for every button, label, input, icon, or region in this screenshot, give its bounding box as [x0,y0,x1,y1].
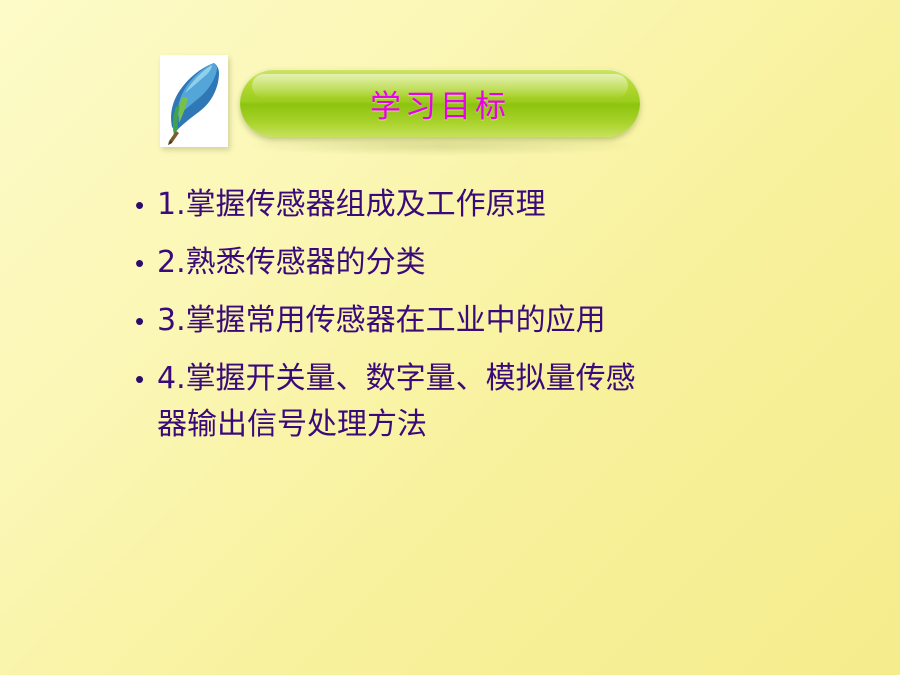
slide-canvas: 学习目标 • 1.掌握传感器组成及工作原理 • 2.熟悉传感器的分类 • 3.掌… [0,0,900,675]
list-item-text: 3.掌握常用传感器在工业中的应用 [157,298,606,344]
list-item-text-line2: 器输出信号处理方法 [157,402,636,448]
list-item-text-wrapper: 4.掌握开关量、数字量、模拟量传感 器输出信号处理方法 [157,356,636,448]
list-item: • 4.掌握开关量、数字量、模拟量传感 器输出信号处理方法 [135,356,855,448]
feather-quill-icon [160,55,228,147]
bullet-marker-icon: • [135,356,157,402]
bullet-marker-icon: • [135,182,157,228]
banner-shadow [252,137,632,155]
list-item-text: 1.掌握传感器组成及工作原理 [157,182,546,228]
list-item: • 1.掌握传感器组成及工作原理 [135,182,855,228]
list-item: • 2.熟悉传感器的分类 [135,240,855,286]
list-item-text: 2.熟悉传感器的分类 [157,240,426,286]
title-banner: 学习目标 [240,69,640,137]
bullet-marker-icon: • [135,240,157,286]
bullet-marker-icon: • [135,298,157,344]
list-item-text-line1: 4.掌握开关量、数字量、模拟量传感 [157,356,636,402]
list-item: • 3.掌握常用传感器在工业中的应用 [135,298,855,344]
page-title: 学习目标 [370,81,510,126]
title-area: 学习目标 [160,55,660,165]
bullet-list: • 1.掌握传感器组成及工作原理 • 2.熟悉传感器的分类 • 3.掌握常用传感… [135,182,855,460]
